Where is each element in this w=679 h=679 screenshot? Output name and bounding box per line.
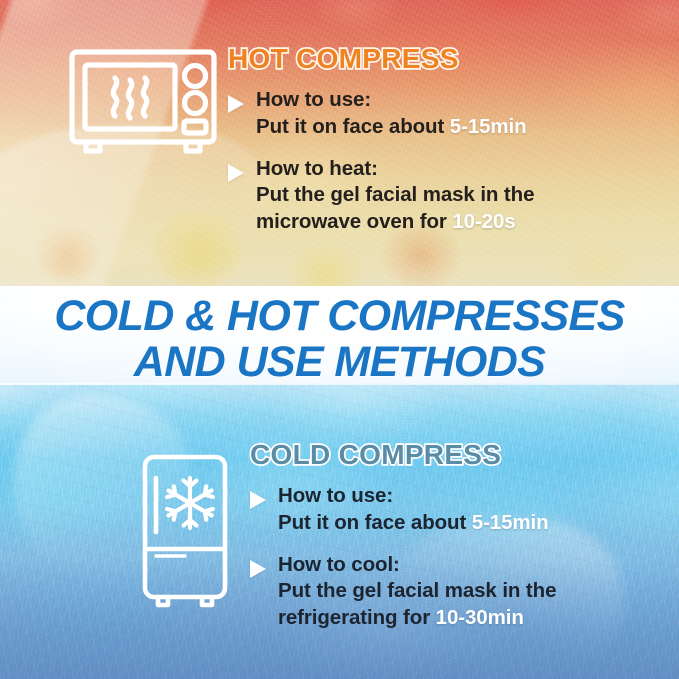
infographic-poster: COLD & HOT COMPRESSES AND USE METHODS xyxy=(0,0,679,679)
page-title-line-2: AND USE METHODS xyxy=(134,341,545,384)
page-title: COLD & HOT COMPRESSES AND USE METHODS xyxy=(0,0,679,679)
page-title-line-1: COLD & HOT COMPRESSES xyxy=(54,295,624,338)
